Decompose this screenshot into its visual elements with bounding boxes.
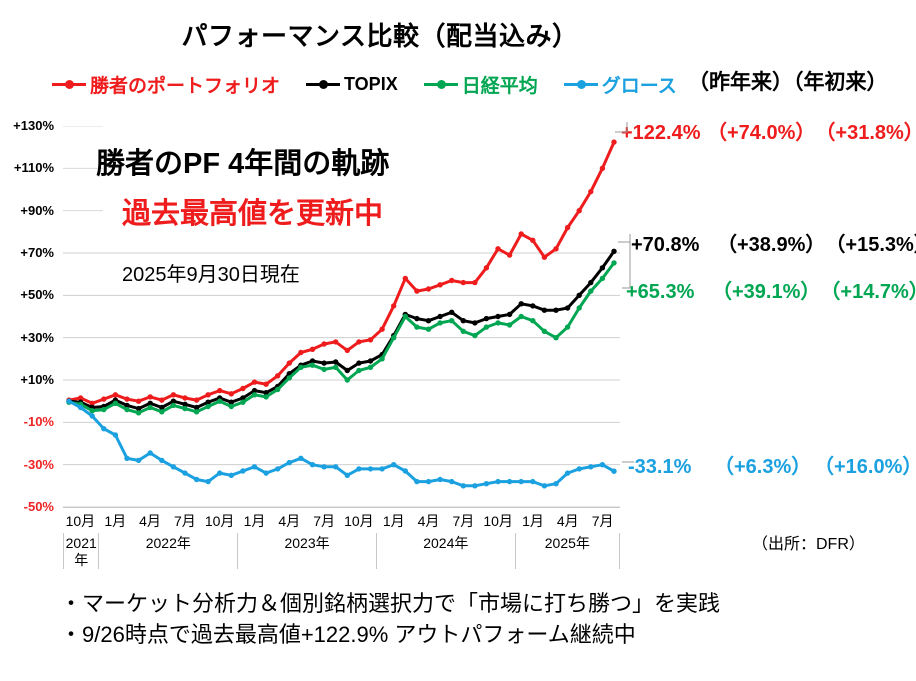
- series-point: [472, 483, 477, 488]
- series-point: [345, 473, 350, 478]
- chart-svg: [63, 126, 620, 507]
- series-point: [171, 392, 176, 397]
- series-point: [379, 356, 384, 361]
- series-point: [553, 335, 558, 340]
- series-point: [484, 324, 489, 329]
- series-point: [113, 432, 118, 437]
- series-point: [437, 320, 442, 325]
- series-point: [148, 394, 153, 399]
- y-tick-label: +110%: [2, 160, 54, 175]
- x-tick-month: 7月: [167, 508, 202, 534]
- series-point: [113, 401, 118, 406]
- series-point: [310, 347, 315, 352]
- series-point: [565, 305, 570, 310]
- value-ytd-topix: （+15.3%）: [825, 228, 916, 257]
- y-tick-label: +50%: [2, 287, 54, 302]
- series-point: [461, 329, 466, 334]
- series-point: [356, 368, 361, 373]
- series-point: [472, 320, 477, 325]
- series-point: [205, 392, 210, 397]
- y-tick-label: +90%: [2, 203, 54, 218]
- series-point: [78, 405, 83, 410]
- series-point: [379, 466, 384, 471]
- series-point: [298, 456, 303, 461]
- series-point: [124, 396, 129, 401]
- series-point: [159, 458, 164, 463]
- x-tick-month: 10月: [342, 508, 377, 534]
- series-point: [530, 238, 535, 243]
- legend-label-topix: TOPIX: [344, 74, 398, 95]
- series-point: [519, 314, 524, 319]
- series-point: [507, 252, 512, 257]
- series-point: [356, 360, 361, 365]
- series-point: [368, 337, 373, 342]
- series-point: [252, 379, 257, 384]
- series-point: [240, 400, 245, 405]
- footer-notes: ・マーケット分析力＆個別銘柄選択力で「市場に打ち勝つ」を実践 ・9/26時点で過…: [60, 588, 900, 650]
- value-row-topix: +70.8% （+38.9%） （+15.3%）: [631, 228, 916, 257]
- series-point: [321, 360, 326, 365]
- legend-item-growth[interactable]: グロース: [564, 71, 677, 98]
- series-point: [368, 358, 373, 363]
- series-point: [182, 395, 187, 400]
- series-point: [437, 314, 442, 319]
- series-point: [507, 479, 512, 484]
- series-point: [205, 404, 210, 409]
- series-point: [240, 468, 245, 473]
- y-tick-label: +70%: [2, 245, 54, 260]
- x-tick-month: 4月: [550, 508, 585, 534]
- series-line-グロース: [69, 401, 614, 486]
- series-point: [356, 466, 361, 471]
- series-point: [553, 481, 558, 486]
- series-point: [461, 280, 466, 285]
- series-point: [321, 367, 326, 372]
- series-point: [553, 246, 558, 251]
- chart-page: パフォーマンス比較（配当込み） 勝者のポートフォリオ TOPIX 日経平均 グロ…: [0, 0, 916, 681]
- series-point: [310, 462, 315, 467]
- series-point: [333, 359, 338, 364]
- series-point: [519, 301, 524, 306]
- legend-item-winner[interactable]: 勝者のポートフォリオ: [52, 71, 280, 98]
- series-point: [182, 406, 187, 411]
- series-point: [542, 483, 547, 488]
- chart-plot-area: [63, 126, 620, 507]
- series-point: [194, 409, 199, 414]
- series-point: [263, 382, 268, 387]
- x-axis-year-group: 2024年: [377, 533, 516, 569]
- series-point: [252, 464, 257, 469]
- series-point: [124, 407, 129, 412]
- legend-label-growth: グロース: [602, 71, 677, 98]
- x-tick-month: 10月: [63, 508, 98, 534]
- x-tick-month: 4月: [411, 508, 446, 534]
- series-point: [461, 483, 466, 488]
- series-point: [403, 468, 408, 473]
- series-point: [101, 407, 106, 412]
- series-point: [426, 479, 431, 484]
- y-tick-label: -30%: [2, 457, 54, 472]
- series-point: [159, 409, 164, 414]
- series-point: [530, 303, 535, 308]
- x-axis-year-group: 2023年: [238, 533, 377, 569]
- source-note: （出所：DFR）: [752, 530, 865, 554]
- legend-item-topix[interactable]: TOPIX: [306, 74, 398, 95]
- series-point: [148, 405, 153, 410]
- value-since-last-year-winner: （+74.0%）: [707, 116, 815, 145]
- series-point: [298, 350, 303, 355]
- series-point: [542, 308, 547, 313]
- x-axis: 10月1月4月7月10月1月4月7月10月1月4月7月10月1月4月7月 202…: [63, 507, 620, 569]
- series-point: [101, 426, 106, 431]
- series-point: [588, 189, 593, 194]
- value-since-last-year-nikkei: （+39.1%）: [712, 275, 820, 304]
- y-tick-label: -10%: [2, 414, 54, 429]
- series-point: [194, 397, 199, 402]
- series-point: [577, 208, 582, 213]
- x-axis-year-group: 2025年: [516, 533, 620, 569]
- series-point: [368, 365, 373, 370]
- annotation-asof-date: 2025年9月30日現在: [122, 258, 300, 287]
- series-point: [298, 365, 303, 370]
- series-point: [333, 339, 338, 344]
- series-point: [449, 310, 454, 315]
- x-axis-months: 10月1月4月7月10月1月4月7月10月1月4月7月10月1月4月7月: [63, 507, 620, 534]
- series-point: [437, 477, 442, 482]
- series-point: [263, 394, 268, 399]
- x-tick-month: 7月: [446, 508, 481, 534]
- series-point: [171, 403, 176, 408]
- value-since-last-year-topix: （+38.9%）: [717, 228, 825, 257]
- series-point: [484, 265, 489, 270]
- series-point: [171, 464, 176, 469]
- legend-marker-line-icon: [306, 77, 340, 91]
- series-point: [414, 316, 419, 321]
- footer-line-1: ・マーケット分析力＆個別銘柄選択力で「市場に打ち勝つ」を実践: [60, 588, 900, 619]
- series-point: [484, 481, 489, 486]
- y-tick-label: +30%: [2, 330, 54, 345]
- leader-lines: [600, 110, 660, 510]
- series-point: [391, 335, 396, 340]
- series-point: [507, 312, 512, 317]
- series-point: [519, 479, 524, 484]
- series-point: [66, 399, 71, 404]
- series-point: [461, 318, 466, 323]
- series-point: [159, 397, 164, 402]
- series-point: [542, 255, 547, 260]
- series-point: [333, 365, 338, 370]
- series-point: [472, 333, 477, 338]
- annotation-headline: 勝者のPF 4年間の軌跡: [96, 140, 389, 182]
- x-axis-year-group: 2022年: [99, 533, 238, 569]
- series-point: [530, 479, 535, 484]
- period-column-header: （昨年来）（年初来）: [688, 66, 888, 96]
- legend-item-nikkei[interactable]: 日経平均: [424, 71, 538, 98]
- series-point: [437, 282, 442, 287]
- series-point: [449, 278, 454, 283]
- series-point: [368, 466, 373, 471]
- series-point: [588, 280, 593, 285]
- series-point: [391, 303, 396, 308]
- series-point: [391, 462, 396, 467]
- x-tick-month: 4月: [272, 508, 307, 534]
- value-since-last-year-growth: （+6.3%）: [714, 450, 814, 479]
- series-point: [182, 470, 187, 475]
- series-point: [345, 377, 350, 382]
- series-point: [275, 466, 280, 471]
- series-point: [553, 308, 558, 313]
- series-point: [449, 479, 454, 484]
- series-point: [275, 387, 280, 392]
- x-tick-month: 10月: [481, 508, 516, 534]
- series-point: [321, 341, 326, 346]
- x-tick-month: 1月: [237, 508, 272, 534]
- series-point: [310, 363, 315, 368]
- series-point: [565, 470, 570, 475]
- series-point: [530, 318, 535, 323]
- series-point: [136, 458, 141, 463]
- series-point: [484, 316, 489, 321]
- series-point: [519, 231, 524, 236]
- series-point: [287, 360, 292, 365]
- series-point: [403, 276, 408, 281]
- series-point: [252, 392, 257, 397]
- series-point: [229, 404, 234, 409]
- series-point: [426, 327, 431, 332]
- series-point: [495, 320, 500, 325]
- y-tick-label: -50%: [2, 499, 54, 514]
- value-row-nikkei: +65.3% （+39.1%） （+14.7%）: [626, 275, 916, 304]
- value-ytd-growth: （+16.0%）: [814, 450, 916, 479]
- series-point: [414, 479, 419, 484]
- x-axis-years: 2021年2022年2023年2024年2025年: [63, 533, 620, 569]
- series-point: [101, 396, 106, 401]
- value-ytd-nikkei: （+14.7%）: [820, 275, 916, 304]
- series-point: [577, 466, 582, 471]
- series-point: [379, 327, 384, 332]
- series-point: [217, 470, 222, 475]
- series-point: [194, 477, 199, 482]
- series-point: [136, 399, 141, 404]
- series-point: [507, 322, 512, 327]
- series-point: [495, 479, 500, 484]
- annotation-subhead: 過去最高値を更新中: [122, 190, 383, 232]
- series-point: [345, 348, 350, 353]
- series-point: [449, 318, 454, 323]
- series-point: [124, 456, 129, 461]
- value-row-winner: +122.4% （+74.0%） （+31.8%）: [621, 116, 916, 145]
- legend-label-nikkei: 日経平均: [462, 71, 538, 98]
- series-point: [414, 288, 419, 293]
- series-point: [90, 408, 95, 413]
- y-tick-label: +130%: [2, 118, 54, 133]
- series-point: [426, 286, 431, 291]
- series-point: [565, 324, 570, 329]
- x-tick-month: 1月: [376, 508, 411, 534]
- value-row-growth: -33.1% （+6.3%） （+16.0%）: [628, 450, 916, 479]
- series-point: [565, 225, 570, 230]
- series-point: [495, 246, 500, 251]
- value-ytd-winner: （+31.8%）: [815, 116, 916, 145]
- y-tick-label: +10%: [2, 372, 54, 387]
- x-tick-month: 7月: [585, 508, 620, 534]
- series-point: [229, 391, 234, 396]
- series-point: [321, 464, 326, 469]
- x-tick-month: 1月: [98, 508, 133, 534]
- series-point: [287, 460, 292, 465]
- series-point: [403, 314, 408, 319]
- series-point: [472, 280, 477, 285]
- series-point: [333, 464, 338, 469]
- series-point: [275, 373, 280, 378]
- series-point: [577, 293, 582, 298]
- series-point: [229, 473, 234, 478]
- series-point: [136, 410, 141, 415]
- series-point: [217, 388, 222, 393]
- x-tick-month: 1月: [516, 508, 551, 534]
- x-tick-month: 10月: [202, 508, 237, 534]
- series-point: [113, 392, 118, 397]
- series-point: [217, 399, 222, 404]
- legend-marker-line-icon: [52, 77, 86, 91]
- series-point: [263, 470, 268, 475]
- chart-legend: 勝者のポートフォリオ TOPIX 日経平均 グロース: [52, 68, 692, 100]
- series-point: [426, 318, 431, 323]
- legend-marker-line-icon: [424, 77, 458, 91]
- legend-marker-line-icon: [564, 77, 598, 91]
- series-point: [495, 314, 500, 319]
- series-point: [287, 375, 292, 380]
- series-point: [588, 288, 593, 293]
- legend-label-winner: 勝者のポートフォリオ: [90, 71, 280, 98]
- series-point: [577, 305, 582, 310]
- series-point: [542, 329, 547, 334]
- series-point: [240, 386, 245, 391]
- series-point: [205, 479, 210, 484]
- series-point: [356, 339, 361, 344]
- series-point: [148, 450, 153, 455]
- series-point: [588, 464, 593, 469]
- footer-line-2: ・9/26時点で過去最高値+122.9% アウトパフォーム継続中: [60, 619, 900, 650]
- x-axis-year-group: 2021年: [63, 533, 99, 569]
- series-point: [90, 413, 95, 418]
- series-point: [345, 368, 350, 373]
- page-title: パフォーマンス比較（配当込み）: [0, 16, 760, 53]
- x-tick-month: 4月: [133, 508, 168, 534]
- series-point: [414, 324, 419, 329]
- x-tick-month: 7月: [307, 508, 342, 534]
